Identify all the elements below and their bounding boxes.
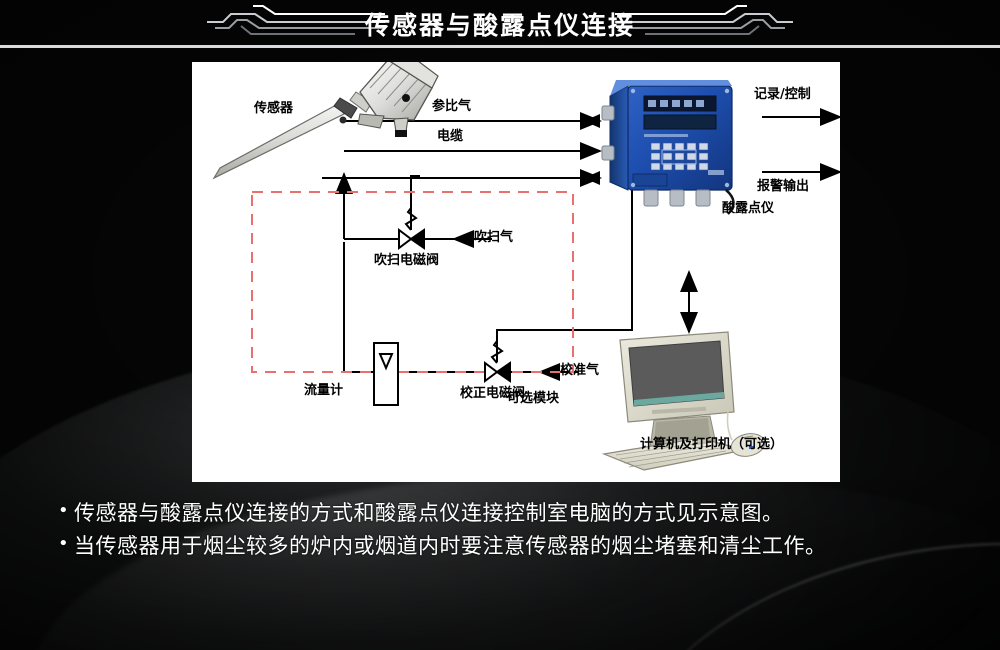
- slide-root: 传感器与酸露点仪连接: [0, 0, 1000, 650]
- bullet-item: • 当传感器用于烟尘较多的炉内或烟道内时要注意传感器的烟尘堵塞和清尘工作。: [58, 533, 988, 559]
- bullet-text: 传感器与酸露点仪连接的方式和酸露点仪连接控制室电脑的方式见示意图。: [74, 500, 784, 526]
- label-alarm-output: 报警输出: [757, 180, 809, 193]
- label-sensor: 传感器: [254, 102, 293, 115]
- label-computer-printer: 计算机及打印机（可选）: [640, 438, 783, 451]
- label-purge-solenoid-valve: 吹扫电磁阀: [374, 254, 439, 267]
- bullet-item: • 传感器与酸露点仪连接的方式和酸露点仪连接控制室电脑的方式见示意图。: [58, 500, 988, 526]
- bullet-text: 当传感器用于烟尘较多的炉内或烟道内时要注意传感器的烟尘堵塞和清尘工作。: [74, 533, 827, 559]
- page-title: 传感器与酸露点仪连接: [0, 6, 1000, 42]
- diagram-svg: [192, 62, 840, 482]
- acid-dew-point-meter-icon: [602, 80, 734, 214]
- label-optional-module: 可选模块: [507, 392, 559, 405]
- diagram-panel: 传感器 参比气 电缆 吹扫气 吹扫电磁阀 流量计 校准气 校正电磁阀 可选模块 …: [192, 62, 840, 482]
- label-purge-gas: 吹扫气: [474, 231, 513, 244]
- label-calibration-gas: 校准气: [560, 364, 599, 377]
- label-cable: 电缆: [437, 130, 463, 143]
- bullet-list: • 传感器与酸露点仪连接的方式和酸露点仪连接控制室电脑的方式见示意图。 • 当传…: [58, 500, 988, 567]
- label-acid-dew-point-meter: 酸露点仪: [722, 202, 774, 215]
- flow-meter-symbol: [374, 343, 398, 405]
- bullet-marker: •: [58, 533, 74, 556]
- title-underline: [0, 45, 1000, 48]
- label-record-control: 记录/控制: [754, 88, 811, 101]
- label-flow-meter: 流量计: [304, 384, 343, 397]
- bullet-marker: •: [58, 500, 74, 523]
- label-reference-gas: 参比气: [432, 100, 471, 113]
- title-bar: 传感器与酸露点仪连接: [0, 0, 1000, 46]
- sensor-device-icon: [214, 62, 438, 178]
